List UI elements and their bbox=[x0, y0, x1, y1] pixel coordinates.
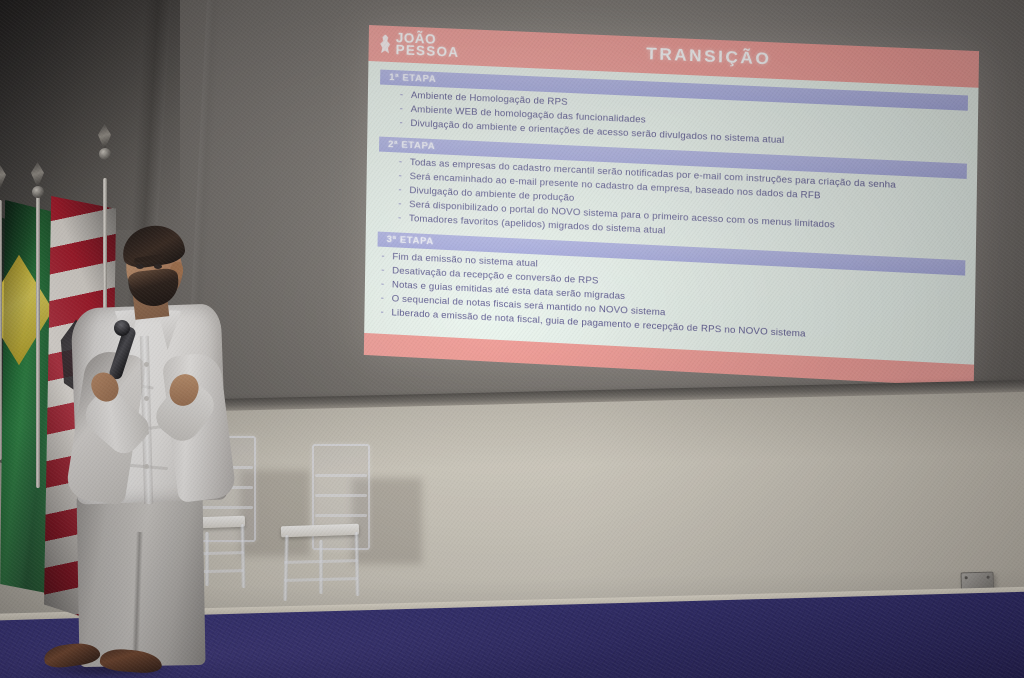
chair-leg bbox=[319, 540, 323, 594]
photo-scene: JOÃO PESSOA TRANSIÇÃO 1ª ETAPA Ambiente … bbox=[0, 0, 1024, 678]
chair-rung bbox=[315, 474, 367, 477]
shirt-button bbox=[144, 464, 149, 469]
shirt-button bbox=[144, 362, 149, 367]
presenter bbox=[30, 232, 240, 678]
slide-body: 1ª ETAPA Ambiente de Homologação de RPS … bbox=[364, 61, 978, 365]
presenter-eye-left bbox=[136, 264, 144, 269]
flag-pole-knob bbox=[32, 186, 44, 198]
screw-icon bbox=[965, 576, 968, 579]
flag-pole bbox=[0, 200, 2, 460]
chair-rung bbox=[315, 494, 367, 497]
shirt-button bbox=[144, 396, 149, 401]
projected-slide: JOÃO PESSOA TRANSIÇÃO 1ª ETAPA Ambiente … bbox=[364, 25, 979, 387]
flag-pole-knob bbox=[99, 148, 111, 160]
presenter-eye-right bbox=[154, 264, 162, 269]
screw-icon bbox=[987, 576, 990, 579]
chair-rung bbox=[315, 514, 367, 517]
